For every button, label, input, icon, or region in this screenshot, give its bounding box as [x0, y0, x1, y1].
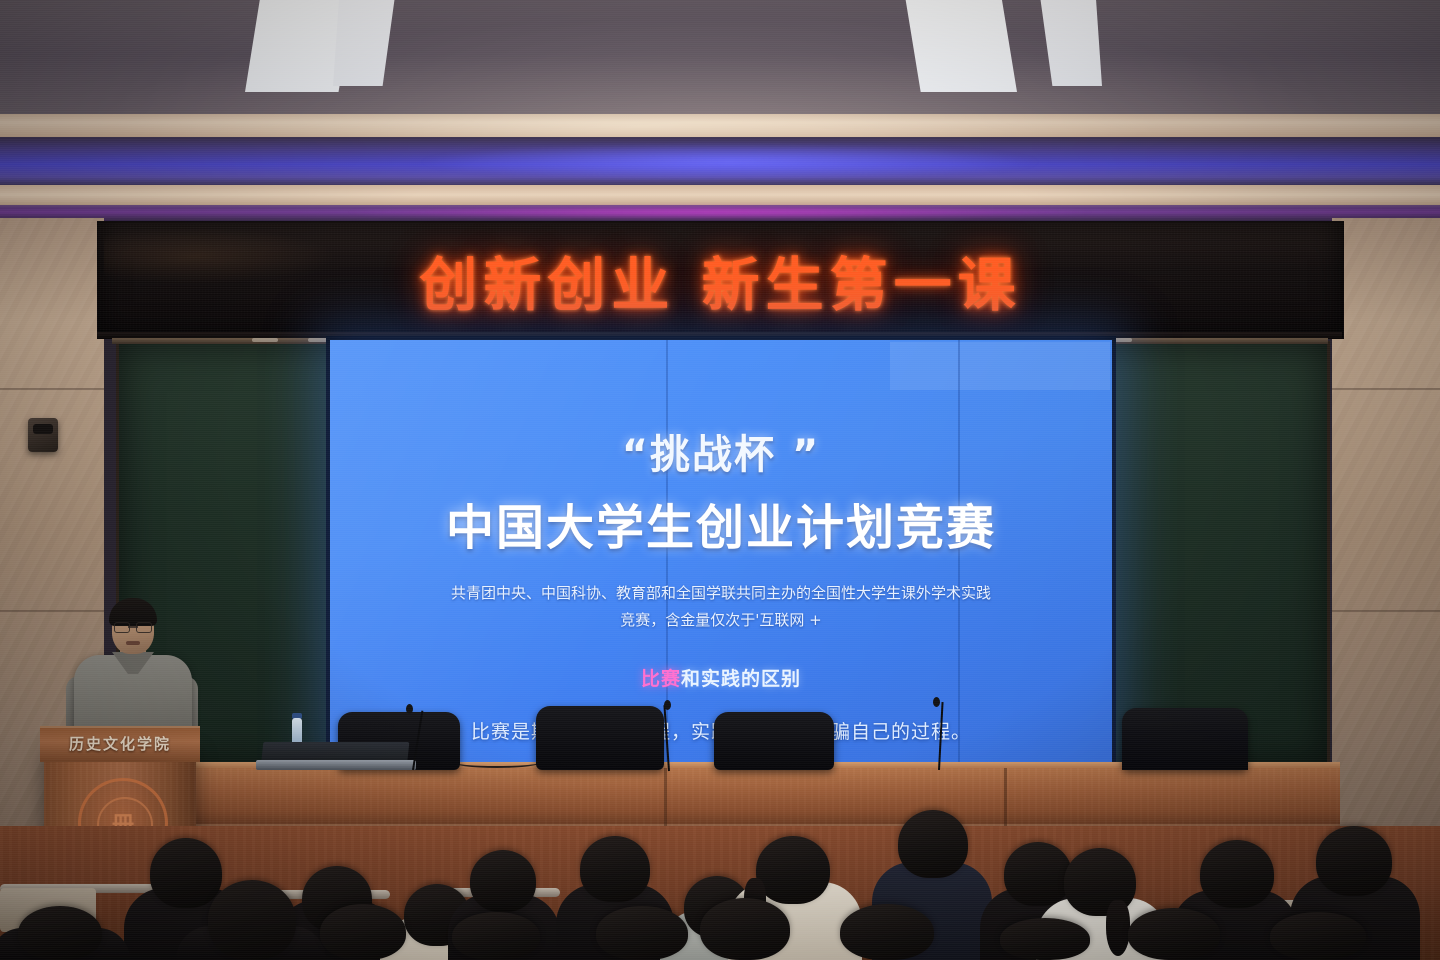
slide-body-line-2: 竞赛，含金量仅次于'互联网 + [416, 607, 1026, 634]
ceiling-shading [0, 0, 1440, 122]
audience-head [840, 904, 934, 960]
wall-seam [1332, 610, 1440, 612]
audience-head [1200, 840, 1274, 908]
led-cove-highlight [330, 140, 1130, 184]
slide-body: 共青团中央、中国科协、教育部和全国学联共同主办的全国性大学生课外学术实践 竞赛，… [416, 580, 1026, 634]
stage-desk-seam [1004, 768, 1007, 826]
wall-seam [0, 610, 104, 612]
projection-screen: “挑战杯 ” 中国大学生创业计划竞赛 共青团中央、中国科协、教育部和全国学联共同… [330, 340, 1112, 770]
audience-head [1000, 918, 1090, 960]
ceiling [0, 0, 1440, 122]
slide-body-line-1: 共青团中央、中国科协、教育部和全国学联共同主办的全国性大学生课外学术实践 [416, 580, 1026, 607]
audience-head [1270, 912, 1366, 960]
led-banner-panel: 创新创业 新生第一课 [97, 221, 1344, 339]
audience-head [470, 850, 536, 912]
slide-subheading-highlight: 比赛 [641, 668, 681, 690]
wall-seam [0, 388, 104, 390]
audience-head [898, 810, 968, 878]
laptop-base [256, 760, 416, 770]
microphone-head [406, 704, 413, 714]
slide-subheading: 比赛和实践的区别 [641, 664, 801, 691]
podium-label: 历史文化学院 [40, 727, 200, 759]
ceiling-light-panel-right [905, 0, 1017, 92]
speaker-mouth [126, 641, 140, 645]
audience-head [1004, 842, 1072, 906]
audience-head [596, 906, 688, 960]
audience-head [18, 906, 102, 960]
desk-cable [558, 756, 628, 767]
stage-desk-seam [664, 768, 667, 826]
wall-seam [1332, 388, 1440, 390]
glasses-bridge [128, 626, 138, 628]
slide-title: 中国大学生创业计划竞赛 [446, 488, 996, 558]
audience-head [700, 898, 790, 960]
audience-head [452, 912, 540, 960]
audience-head [150, 838, 222, 908]
led-cove-magenta-highlight [250, 204, 1200, 220]
audience-head [1316, 826, 1392, 896]
slide-subheading-rest: 和实践的区别 [681, 668, 801, 690]
led-banner-text: 创新创业 新生第一课 [98, 222, 1343, 338]
stage-desk-grain [104, 768, 1340, 826]
audience-head [320, 904, 406, 960]
presentation-slide: “挑战杯 ” 中国大学生创业计划竞赛 共青团中央、中国科协、教育部和全国学联共同… [330, 340, 1112, 770]
stage-chair-skirt [1122, 730, 1248, 770]
audience-head [756, 836, 830, 904]
audience-head [208, 880, 296, 960]
stage-desk [104, 768, 1340, 826]
audience-ponytail [1106, 900, 1130, 956]
wall-speaker-icon [28, 418, 58, 452]
microphone-head [664, 700, 671, 710]
audience-head [580, 836, 650, 902]
slide-quoted-title: “挑战杯 ” [622, 422, 821, 480]
lecture-hall-photo: 创新创业 新生第一课 “挑战杯 ” 中国大学生创业计划竞赛 共青团中央、中国科协… [0, 0, 1440, 960]
chalk-piece [252, 338, 278, 342]
stage-chair [714, 712, 834, 770]
desk-cable [452, 756, 542, 768]
soffit-glow [0, 114, 1440, 138]
audience-head [1128, 908, 1220, 960]
microphone-head [933, 697, 940, 707]
